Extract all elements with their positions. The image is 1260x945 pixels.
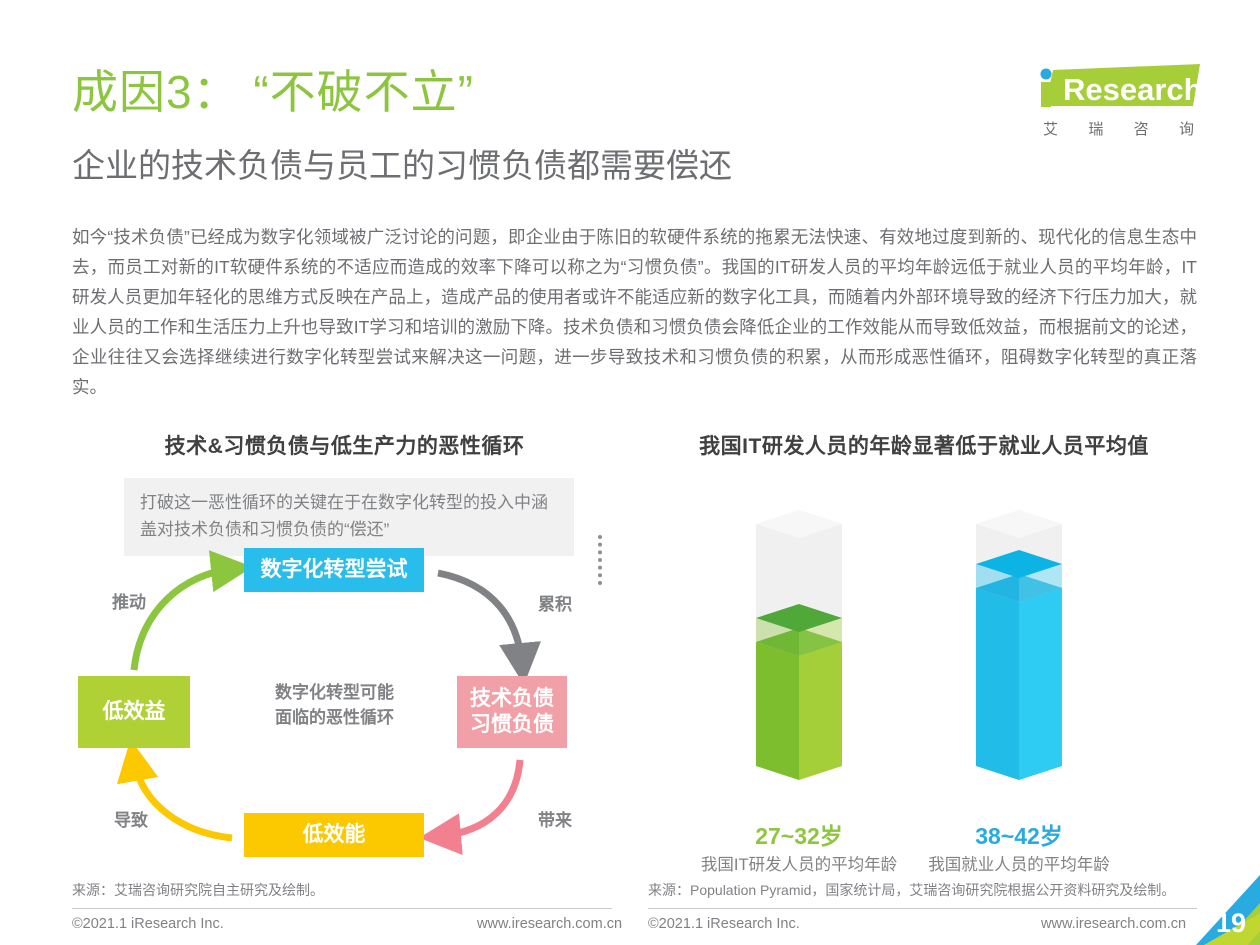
logo-shape-icon: Research [1035, 62, 1200, 112]
bar-column-employed: 38~42岁 我国就业人员的平均年龄 [914, 476, 1124, 876]
arrow-label-bring: 带来 [538, 806, 572, 831]
node-low-efficiency[interactable]: 低效能 [244, 813, 424, 857]
node-efficiency-label: 低效能 [303, 822, 366, 848]
node-tech-habit-debt[interactable]: 技术负债 习惯负债 [457, 676, 567, 748]
arrow-label-push: 推动 [112, 588, 146, 613]
callout-box: 打破这一恶性循环的关键在于在数字化转型的投入中涵盖对技术负债和习惯负债的“偿还” [124, 478, 574, 556]
arrow-accumulate-icon [438, 573, 522, 664]
iresearch-logo: Research 艾 瑞 咨 询 [1035, 62, 1200, 144]
logo-cn-char-1: 艾 [1043, 118, 1059, 139]
node-debt-label-line1: 技术负债 [470, 686, 554, 712]
left-copyright: ©2021.1 iResearch Inc. [72, 916, 224, 932]
arrow-cause-icon [134, 760, 232, 838]
bar-value-it-developers: 27~32岁 [694, 817, 904, 851]
bar-column-it-developers: 27~32岁 我国IT研发人员的平均年龄 [694, 476, 904, 876]
logo-mark: Research [1035, 62, 1200, 112]
arrow-label-accumulate: 累积 [538, 590, 572, 615]
bar-value-employed: 38~42岁 [914, 817, 1124, 851]
bar-caption-employed: 我国就业人员的平均年龄 [914, 854, 1124, 876]
bar-3d-green-icon [694, 476, 904, 806]
node-low-benefit[interactable]: 低效益 [78, 676, 190, 748]
cycle-center-line1: 数字化转型可能 [252, 681, 417, 706]
right-copyright: ©2021.1 iResearch Inc. [648, 916, 800, 932]
page-title: 成因3： “不破不立” [72, 66, 474, 119]
body-paragraph: 如今“技术负债”已经成为数字化领域被广泛讨论的问题，即企业由于陈旧的软硬件系统的… [72, 222, 1197, 402]
node-benefit-label: 低效益 [103, 699, 166, 725]
logo-cn-char-2: 瑞 [1088, 118, 1104, 139]
right-divider [648, 908, 1197, 909]
logo-chinese-name: 艾 瑞 咨 询 [1043, 118, 1195, 139]
node-digital-label: 数字化转型尝试 [261, 557, 408, 583]
arrow-label-cause: 导致 [114, 806, 148, 831]
right-panel: 我国IT研发人员的年龄显著低于就业人员平均值 27~32岁 我 [648, 430, 1200, 900]
bar-3d-blue-icon [914, 476, 1124, 806]
left-divider [72, 908, 612, 909]
logo-cn-char-4: 询 [1179, 118, 1195, 139]
right-panel-heading: 我国IT研发人员的年龄显著低于就业人员平均值 [648, 430, 1200, 460]
arrow-push-icon [134, 569, 232, 670]
arrow-bring-icon [440, 760, 520, 836]
left-panel: 技术&习惯负债与低生产力的恶性循环 打破这一恶性循环的关键在于在数字化转型的投入… [72, 430, 617, 900]
left-panel-heading: 技术&习惯负债与低生产力的恶性循环 [72, 430, 617, 460]
cycle-center-text: 数字化转型可能 面临的恶性循环 [252, 681, 417, 730]
left-source-note: 来源：艾瑞咨询研究院自主研究及绘制。 [72, 880, 324, 900]
node-digital-transformation[interactable]: 数字化转型尝试 [244, 548, 424, 592]
logo-cn-char-3: 咨 [1134, 118, 1150, 139]
left-website[interactable]: www.iresearch.com.cn [477, 916, 622, 932]
bar-caption-it-developers: 我国IT研发人员的平均年龄 [694, 854, 904, 876]
node-debt-label-line2: 习惯负债 [470, 712, 554, 738]
vicious-cycle-diagram: 数字化转型尝试 技术负债 习惯负债 低效益 低效能 数字化转型可能 面临的恶性循… [72, 548, 617, 858]
svg-text:Research: Research [1063, 72, 1200, 107]
right-source-note: 来源：Population Pyramid，国家统计局，艾瑞咨询研究院根据公开资… [648, 880, 1175, 900]
page-number: 19 [1216, 908, 1246, 939]
cycle-center-line2: 面临的恶性循环 [252, 706, 417, 731]
right-website[interactable]: www.iresearch.com.cn [1041, 916, 1186, 932]
page-subtitle: 企业的技术负债与员工的习惯负债都需要偿还 [72, 146, 732, 186]
slide-page: 成因3： “不破不立” 企业的技术负债与员工的习惯负债都需要偿还 Researc… [0, 0, 1260, 945]
age-bar-chart: 27~32岁 我国IT研发人员的平均年龄 38~42岁 我国就业人 [648, 476, 1200, 816]
